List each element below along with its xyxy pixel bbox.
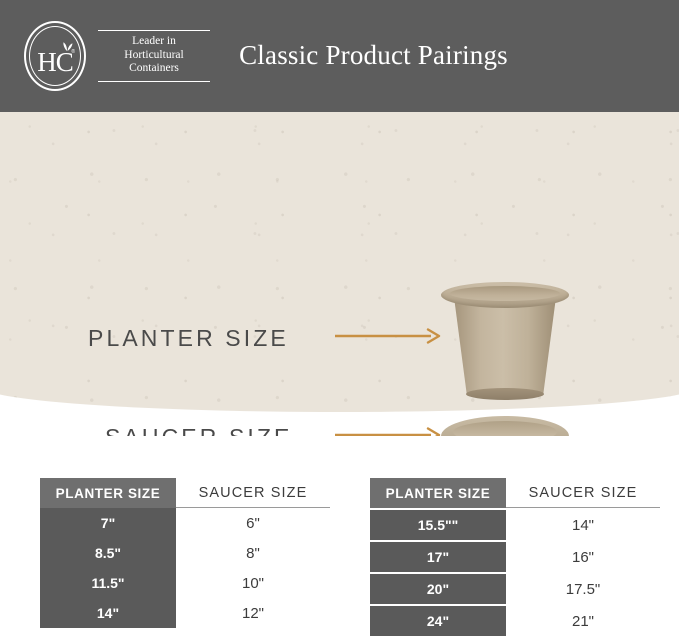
table-row: 8.5" 8" [40,538,330,568]
planter-size-label: PLANTER SIZE [88,325,289,352]
cell-planter-size: 15.5"" [370,510,506,540]
column-header-planter: PLANTER SIZE [370,478,506,508]
page-title: Classic Product Pairings [0,39,679,71]
table-row: 14" 12" [40,598,330,628]
arrow-right-icon-planter [335,328,443,344]
cell-saucer-size: 21" [506,606,660,636]
saucer-size-label: SAUCER SIZE [105,424,292,436]
cell-planter-size: 24" [370,606,506,636]
page-header: HC ® Leader in Horticultural Containers … [0,0,679,112]
size-pairing-tables: PLANTER SIZE SAUCER SIZE 7" 6" 8.5" 8" 1… [0,478,679,636]
column-header-saucer: SAUCER SIZE [506,478,660,508]
cell-planter-size: 14" [40,598,176,628]
size-table-small: PLANTER SIZE SAUCER SIZE 7" 6" 8.5" 8" 1… [40,478,330,636]
cell-planter-size: 11.5" [40,568,176,598]
planter-base [466,388,544,400]
saucer-dish-illustration [441,416,569,436]
planter-rim-inner [450,286,560,301]
cell-saucer-size: 12" [176,598,330,628]
column-header-planter: PLANTER SIZE [40,478,176,508]
cell-planter-size: 7" [40,508,176,538]
hero-background [0,112,679,412]
cell-saucer-size: 14" [506,510,660,540]
cell-saucer-size: 8" [176,538,330,568]
cell-saucer-size: 10" [176,568,330,598]
column-header-saucer: SAUCER SIZE [176,478,330,508]
table-row: 20" 17.5" [370,574,660,604]
cell-planter-size: 20" [370,574,506,604]
cell-saucer-size: 6" [176,508,330,538]
table-row: 11.5" 10" [40,568,330,598]
arrow-right-icon-saucer [335,427,443,436]
table-row: 17" 16" [370,542,660,572]
planter-body [452,298,558,395]
cell-planter-size: 8.5" [40,538,176,568]
table-header-row: PLANTER SIZE SAUCER SIZE [40,478,330,508]
hero-section: PLANTER SIZE SAUCER SIZE [0,112,679,436]
size-table-large: PLANTER SIZE SAUCER SIZE 15.5"" 14" 17" … [370,478,660,636]
table-header-row: PLANTER SIZE SAUCER SIZE [370,478,660,508]
table-row: 7" 6" [40,508,330,538]
saucer-inner-basin [453,421,557,436]
cell-saucer-size: 17.5" [506,574,660,604]
table-row: 15.5"" 14" [370,510,660,540]
planter-pot-illustration [441,282,569,400]
table-row: 24" 21" [370,606,660,636]
cell-saucer-size: 16" [506,542,660,572]
cell-planter-size: 17" [370,542,506,572]
